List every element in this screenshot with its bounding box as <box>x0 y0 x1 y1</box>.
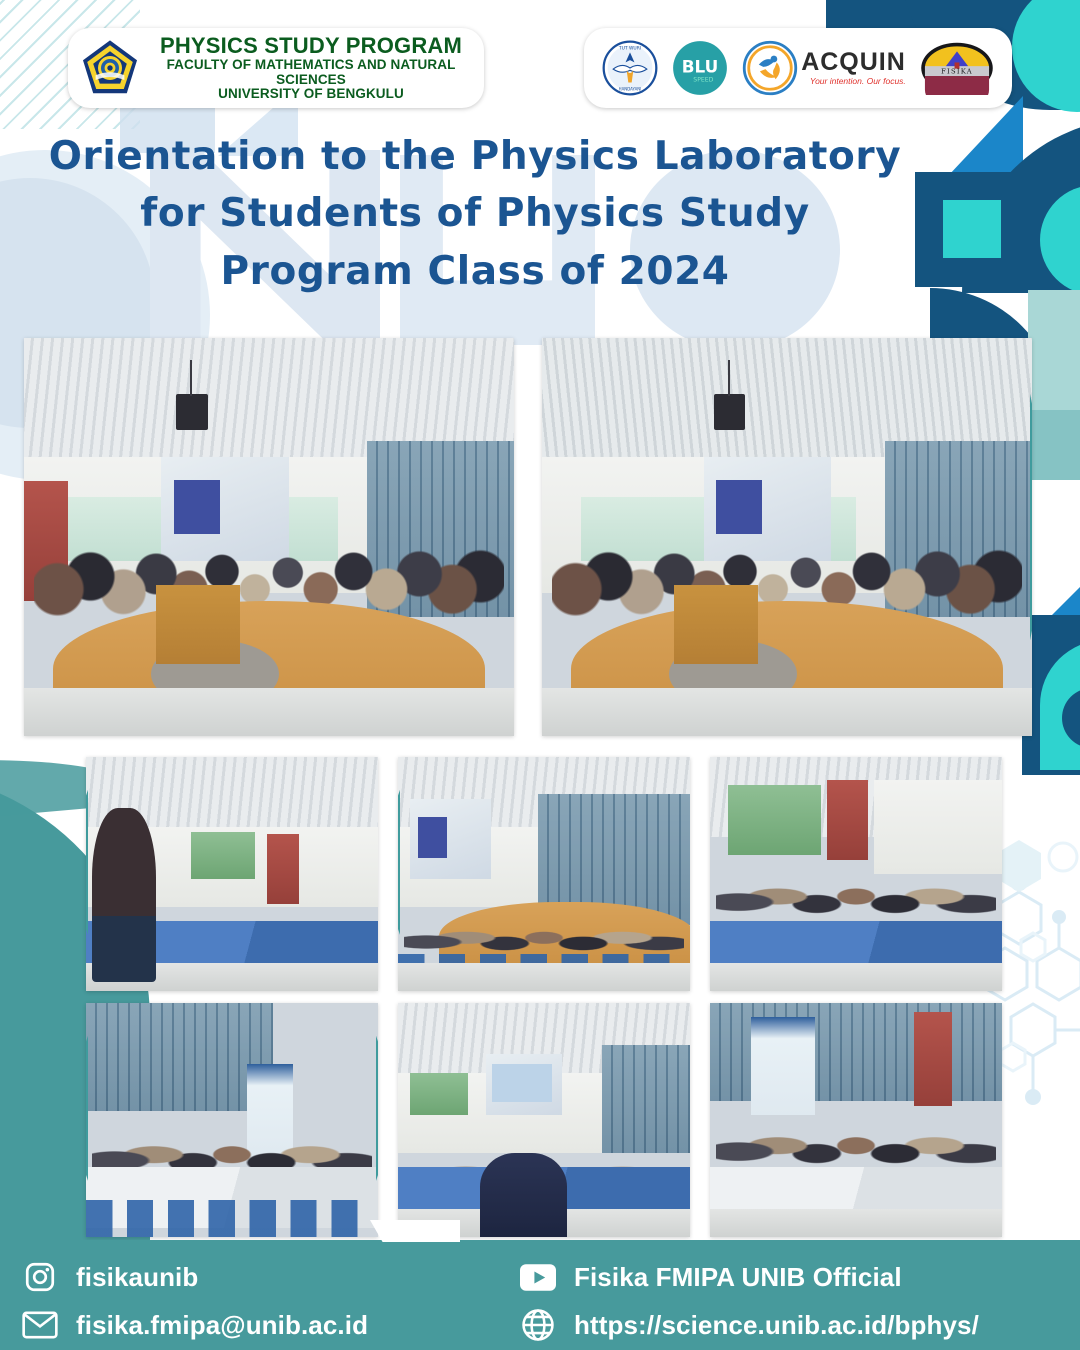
acquin-logo: ACQUIN Your intention. Our focus. <box>742 40 906 96</box>
top-right-blue-quarter-circle <box>962 118 1080 293</box>
footer-right-contacts: Fisika FMIPA UNIB Official https://scien… <box>520 1258 979 1344</box>
photo-lab-bench-row <box>710 1003 1002 1237</box>
contact-instagram[interactable]: fisikaunib <box>22 1258 368 1296</box>
svg-text:HANDAYANI: HANDAYANI <box>619 86 642 91</box>
tut-wuri-handayani-logo: TUT WURI HANDAYANI <box>602 39 658 97</box>
fisika-unib-logo: FISIKA <box>920 39 994 97</box>
top-right-teal-circle <box>1012 0 1080 112</box>
footer-left-contacts: fisikaunib fisika.fmipa@unib.ac.id <box>22 1258 368 1344</box>
photo-teal-accent <box>376 1036 378 1181</box>
accreditation-logos-badge: TUT WURI HANDAYANI BLU SPEED ACQ <box>584 28 1012 108</box>
photo-group-seminar-room-2 <box>542 338 1032 736</box>
university-of-bengkulu-logo <box>80 38 140 98</box>
title-line-2: for Students of Physics Study <box>0 185 950 242</box>
photo-lab-desks-blue <box>710 757 1002 991</box>
badge-subtitle-university: UNIVERSITY OF BENGKULU <box>150 87 472 102</box>
photo-classroom-rows <box>86 1003 378 1237</box>
svg-text:FISIKA: FISIKA <box>941 68 973 76</box>
svg-text:SPEED: SPEED <box>693 76 713 83</box>
contact-website[interactable]: https://science.unib.ac.id/bphys/ <box>520 1306 979 1344</box>
photo-teal-accent <box>86 1036 88 1181</box>
footer-contact-bar: fisikaunib fisika.fmipa@unib.ac.id <box>0 1240 1080 1350</box>
right-teal-arc <box>1040 640 1080 770</box>
svg-text:TUT WURI: TUT WURI <box>618 46 641 52</box>
email-address: fisika.fmipa@unib.ac.id <box>76 1310 368 1341</box>
photo-presentation-pembina <box>398 1003 690 1237</box>
website-url: https://science.unib.ac.id/bphys/ <box>574 1310 979 1341</box>
instagram-handle: fisikaunib <box>76 1262 198 1293</box>
badge-subtitle-faculty: FACULTY OF MATHEMATICS AND NATURAL SCIEN… <box>150 58 472 87</box>
contact-youtube[interactable]: Fisika FMIPA UNIB Official <box>520 1258 979 1296</box>
contact-email[interactable]: fisika.fmipa@unib.ac.id <box>22 1306 368 1344</box>
top-right-pale-teal-block <box>1028 290 1080 415</box>
badge-title: PHYSICS STUDY PROGRAM <box>150 34 472 58</box>
poster-canvas: PHYSICS STUDY PROGRAM FACULTY OF MATHEMA… <box>0 0 1080 1350</box>
photo-teal-accent <box>398 790 400 935</box>
poster-title: Orientation to the Physics Laboratory fo… <box>0 128 950 300</box>
photo-group-seminar-room-1 <box>24 338 514 736</box>
top-right-inner-teal-square <box>943 200 1001 258</box>
photo-classroom-briefing <box>86 757 378 991</box>
youtube-channel: Fisika FMIPA UNIB Official <box>574 1262 902 1293</box>
title-line-1: Orientation to the Physics Laboratory <box>0 128 950 185</box>
youtube-icon <box>520 1259 556 1295</box>
footer-notch-decoration <box>370 1220 460 1242</box>
blu-speed-logo: BLU SPEED <box>672 39 728 97</box>
acquin-tagline: Your intention. Our focus. <box>801 77 906 86</box>
email-icon <box>22 1307 58 1343</box>
globe-icon <box>520 1307 556 1343</box>
svg-text:BLU: BLU <box>682 56 719 76</box>
instagram-icon <box>22 1259 58 1295</box>
top-right-blue-triangle <box>948 96 1023 176</box>
acquin-wordmark: ACQUIN <box>801 50 906 75</box>
photo-discussion-table <box>398 757 690 991</box>
top-right-teal-circle-b <box>1040 185 1080 295</box>
photo-teal-accent <box>86 790 88 935</box>
program-identity-badge: PHYSICS STUDY PROGRAM FACULTY OF MATHEMA… <box>68 28 484 108</box>
right-dark-dot <box>1062 688 1080 748</box>
photo-teal-accent <box>1030 394 1032 641</box>
title-line-3: Program Class of 2024 <box>0 243 950 300</box>
